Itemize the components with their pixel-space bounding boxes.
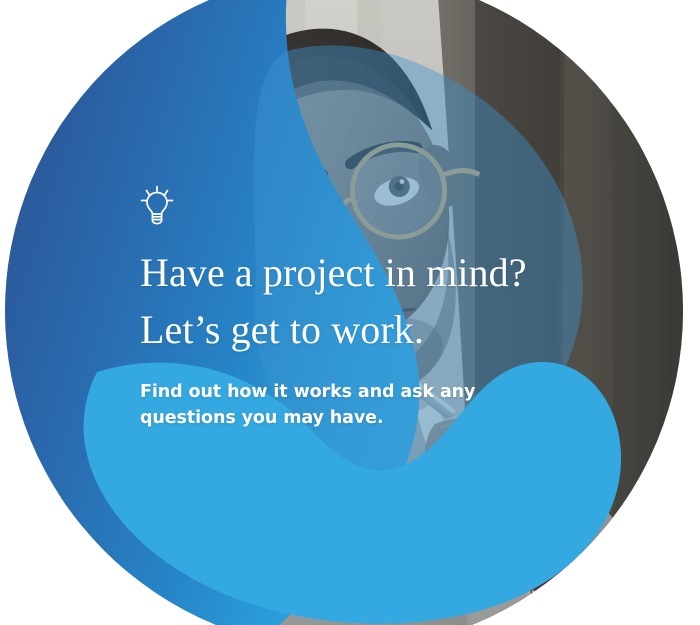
lightbulb-icon (140, 185, 610, 225)
body-line-2: questions you may have. (140, 405, 610, 432)
hero-content: Have a project in mind? Let’s get to wor… (140, 185, 610, 432)
body-text: Find out how it works and ask any questi… (140, 379, 610, 433)
headline-line-1: Have a project in mind? (140, 245, 610, 302)
body-line-1: Find out how it works and ask any (140, 379, 610, 406)
headline-line-2: Let’s get to work. (140, 302, 610, 359)
headline: Have a project in mind? Let’s get to wor… (140, 245, 610, 359)
hero-banner: Have a project in mind? Let’s get to wor… (0, 0, 700, 625)
